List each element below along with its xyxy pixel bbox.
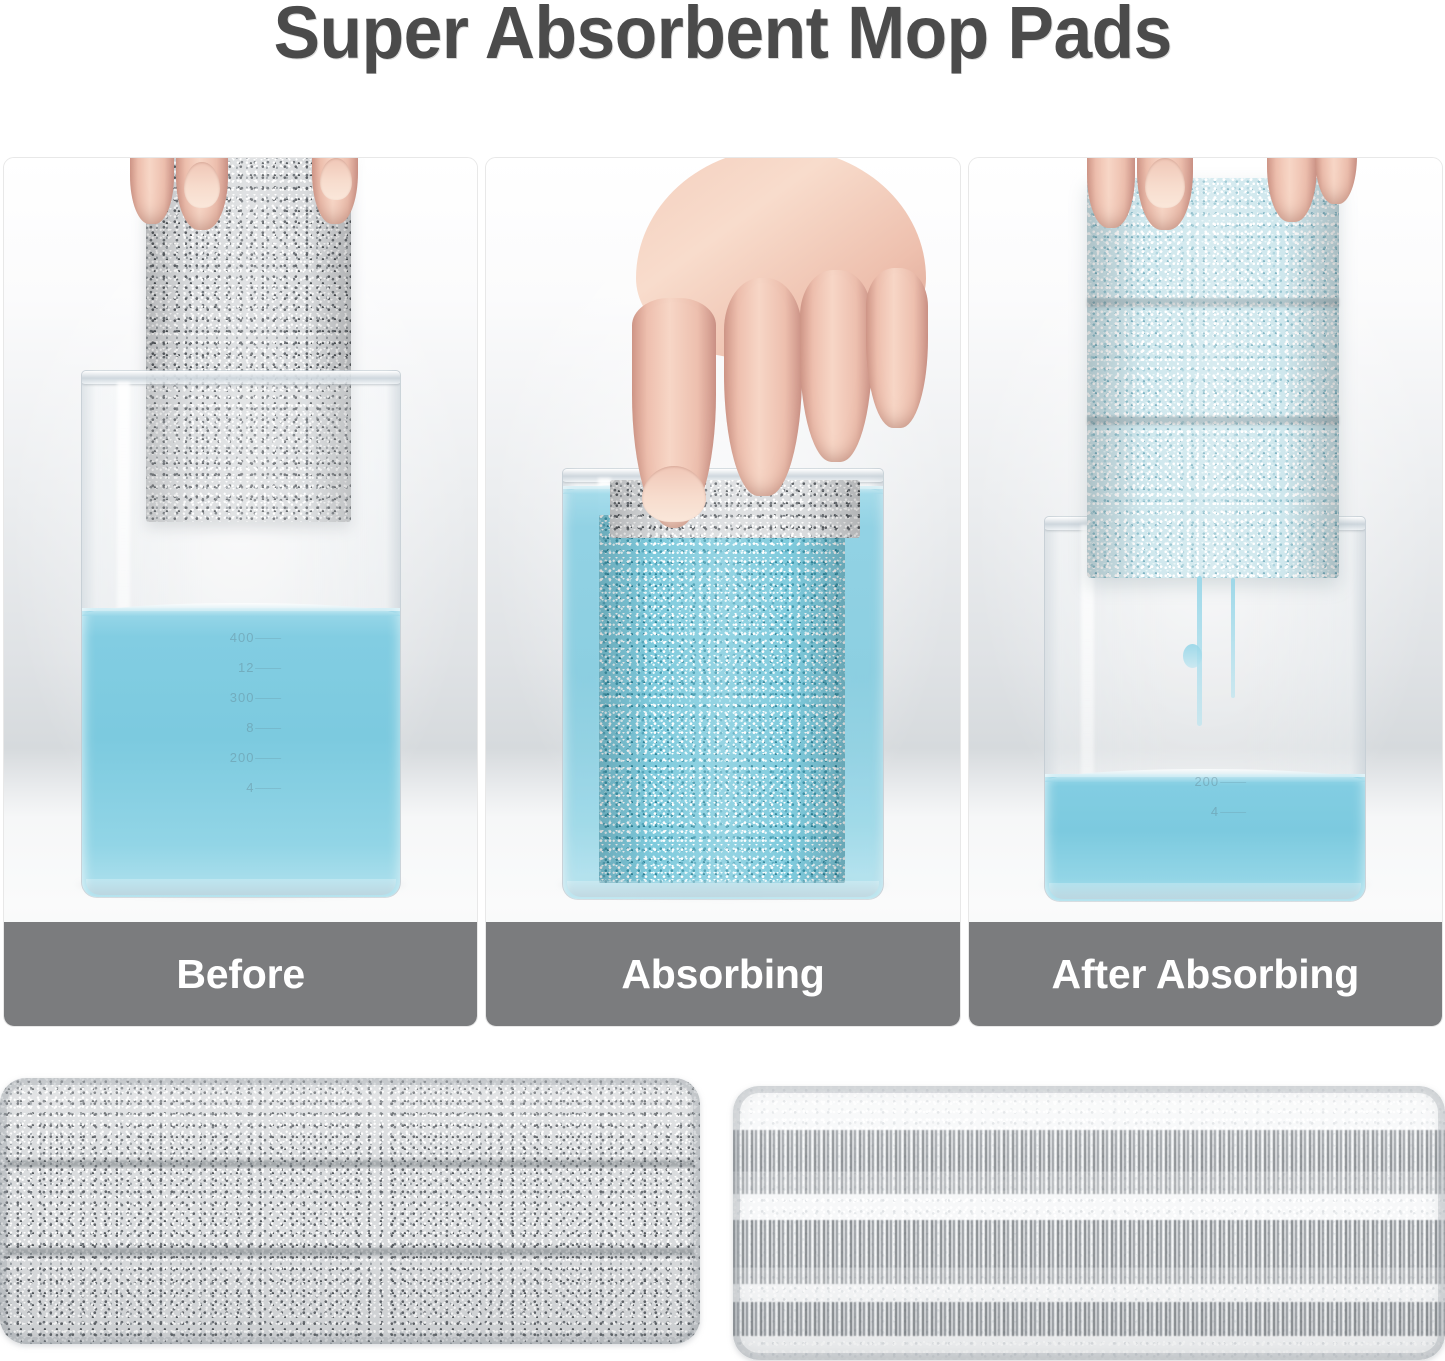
- pad-stripe-band: [733, 1302, 1445, 1336]
- product-gallery: [0, 1070, 1445, 1361]
- pad-surface: [0, 1078, 700, 1344]
- water-droplet: [1183, 644, 1202, 668]
- demo-panel-before: 400 12 300 8 200 4 Before: [3, 157, 478, 1027]
- pad-crease: [1087, 298, 1339, 307]
- demo-panel-after: 200 4 After Absorbing: [968, 157, 1443, 1027]
- panel-label-before: Before: [4, 922, 477, 1026]
- pad-shading: [610, 480, 860, 538]
- pad-stripe-band: [733, 1220, 1445, 1268]
- demo-panel-row: 400 12 300 8 200 4 Before: [3, 157, 1443, 1027]
- beaker-before: 400 12 300 8 200 4: [81, 370, 401, 898]
- panel-label-absorbing: Absorbing: [486, 922, 959, 1026]
- mop-pad-dry-top: [610, 480, 860, 538]
- water-stream: [1231, 578, 1235, 698]
- liquid-fill: [1045, 774, 1365, 901]
- pad-stripe-band: [733, 1172, 1445, 1194]
- pad-shading: [1087, 178, 1339, 578]
- pad-seam: [6, 1248, 694, 1255]
- pad-crease: [1087, 416, 1339, 425]
- pad-stripe-band: [733, 1268, 1445, 1284]
- panel-label-text: After Absorbing: [1052, 954, 1360, 995]
- panel-label-text: Before: [176, 954, 305, 995]
- beaker-base: [567, 881, 879, 897]
- panel-label-after: After Absorbing: [969, 922, 1442, 1026]
- liquid-fill: [82, 608, 400, 897]
- page-title: Super Absorbent Mop Pads: [273, 0, 1171, 70]
- page-header: Super Absorbent Mop Pads: [0, 0, 1445, 150]
- pad-stripe-band: [733, 1130, 1445, 1172]
- pad-shading: [599, 515, 845, 883]
- mop-pad-saturated: [1087, 178, 1339, 578]
- mop-pad-soaking: [599, 515, 845, 883]
- pad-seam: [6, 1160, 694, 1167]
- beaker-base: [86, 879, 396, 895]
- panel-label-text: Absorbing: [621, 954, 824, 995]
- product-pad-striped: [733, 1086, 1445, 1360]
- product-pad-gray: [0, 1078, 700, 1344]
- demo-panel-absorbing: Absorbing: [485, 157, 960, 1027]
- beaker-base: [1049, 883, 1361, 899]
